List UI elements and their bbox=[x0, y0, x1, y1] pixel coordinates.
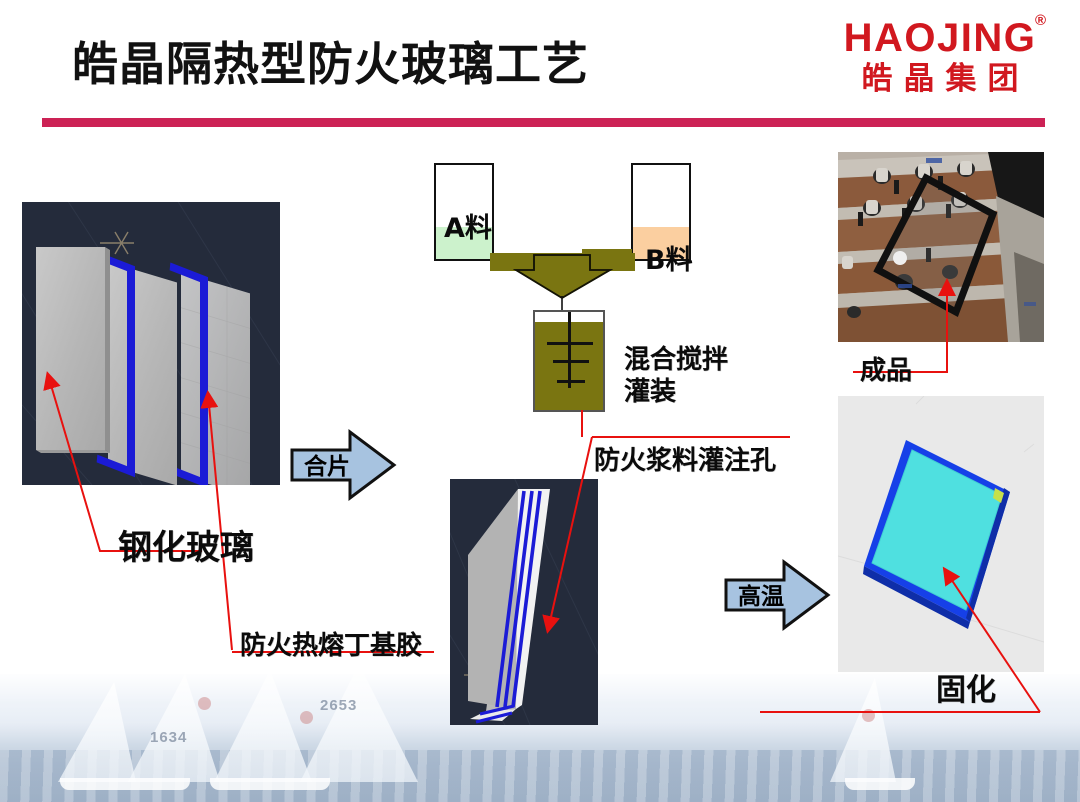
sail bbox=[212, 674, 312, 782]
stirrer-blade bbox=[547, 342, 593, 345]
mixer-label-line2: 灌装 bbox=[624, 371, 676, 408]
registered-trademark-icon: ® bbox=[1035, 12, 1046, 29]
sail-crest-icon bbox=[300, 711, 313, 724]
cad-cured-panel bbox=[838, 396, 1044, 672]
sail bbox=[128, 674, 220, 782]
company-logo: HAOJING ® 皓晶集团 bbox=[830, 16, 1050, 108]
boat-hull bbox=[60, 778, 190, 790]
arrow-lamination-label: 合片 bbox=[304, 447, 350, 481]
stirrer-blade bbox=[557, 380, 585, 383]
sail bbox=[58, 682, 136, 782]
label-injection-hole: 防火浆料灌注孔 bbox=[594, 440, 776, 477]
photo-production-line bbox=[838, 152, 1044, 342]
slide-canvas: 皓晶隔热型防火玻璃工艺 HAOJING ® 皓晶集团 1634 2653 bbox=[0, 0, 1080, 802]
cured-panel-svg bbox=[838, 396, 1044, 672]
boat-hull bbox=[845, 778, 915, 790]
cad-laminated-glass bbox=[450, 479, 598, 725]
logo-text-cn: 皓晶集团 bbox=[830, 60, 1050, 98]
glass-stack-svg bbox=[22, 202, 280, 485]
sail bbox=[830, 678, 896, 782]
boat-hull bbox=[210, 778, 330, 790]
header-divider bbox=[42, 118, 1045, 127]
label-curing: 固化 bbox=[936, 665, 996, 709]
label-finished-product: 成品 bbox=[860, 350, 912, 387]
sail bbox=[300, 674, 418, 782]
page-title: 皓晶隔热型防火玻璃工艺 bbox=[72, 28, 589, 94]
mixer-tank bbox=[533, 310, 605, 412]
slide-header: 皓晶隔热型防火玻璃工艺 HAOJING ® 皓晶集团 bbox=[0, 0, 1080, 128]
sail-number: 2653 bbox=[320, 697, 357, 714]
laminate-svg bbox=[450, 479, 598, 725]
logo-text-en: HAOJING bbox=[830, 16, 1050, 60]
stirrer-blade bbox=[553, 360, 589, 363]
label-butyl-adhesive: 防火热熔丁基胶 bbox=[240, 625, 422, 662]
mixing-pipe bbox=[430, 240, 700, 310]
sail-crest-icon bbox=[862, 709, 875, 722]
sail-number: 1634 bbox=[150, 729, 187, 746]
label-tempered-glass: 钢化玻璃 bbox=[118, 520, 254, 569]
cad-glass-stack bbox=[22, 202, 280, 485]
arrow-high-temperature-label: 高温 bbox=[738, 577, 784, 611]
stirrer-shaft bbox=[568, 312, 571, 388]
sail-crest-icon bbox=[198, 697, 211, 710]
production-line-svg bbox=[838, 152, 1044, 342]
